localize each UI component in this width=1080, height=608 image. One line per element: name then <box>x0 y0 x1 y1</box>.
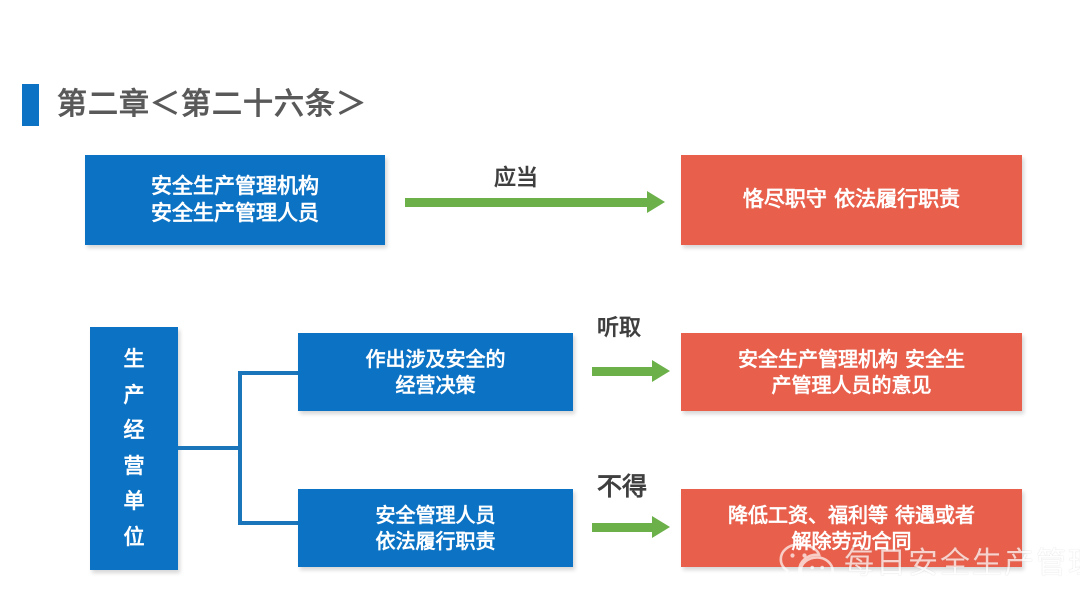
bottom-target-line-2: 解除劳动合同 <box>792 528 912 554</box>
middle-source-line-2: 经营决策 <box>396 372 476 398</box>
bottom-arrow-shaft <box>592 523 652 532</box>
top-arrow-shaft <box>405 198 647 207</box>
connector-trunk <box>238 371 242 525</box>
top-arrow-head <box>647 191 665 213</box>
top-source-line-1: 安全生产管理机构 <box>151 173 319 200</box>
vertical-char-0: 生 <box>124 349 145 370</box>
middle-source-line-1: 作出涉及安全的 <box>366 346 506 372</box>
connector-branch-lower <box>238 521 300 525</box>
middle-arrow-head <box>652 360 670 382</box>
bottom-target-box: 降低工资、福利等 待遇或者 解除劳动合同 <box>681 489 1022 567</box>
vertical-label-box: 生 产 经 营 单 位 <box>90 327 178 570</box>
middle-target-box: 安全生产管理机构 安全生 产管理人员的意见 <box>681 333 1022 411</box>
title-accent-bar <box>22 84 39 126</box>
middle-target-line-1: 安全生产管理机构 安全生 <box>738 346 965 372</box>
bottom-arrow-head <box>652 516 670 538</box>
middle-arrow-label: 听取 <box>597 318 641 340</box>
vertical-char-5: 位 <box>124 527 145 548</box>
top-source-line-2: 安全生产管理人员 <box>151 200 319 227</box>
title-text: 第二章＜第二十六条＞ <box>57 90 367 120</box>
middle-target-line-2: 产管理人员的意见 <box>772 372 932 398</box>
top-target-box: 恪尽职守 依法履行职责 <box>681 155 1022 245</box>
top-arrow-label: 应当 <box>494 168 538 190</box>
bottom-source-box: 安全管理人员 依法履行职责 <box>298 489 573 567</box>
top-arrow <box>405 197 665 207</box>
top-target-line-1: 恪尽职守 依法履行职责 <box>743 186 960 213</box>
connector-branch-upper <box>238 371 300 375</box>
connector-stub <box>178 446 242 450</box>
bottom-source-line-2: 依法履行职责 <box>376 528 496 554</box>
middle-arrow-shaft <box>592 367 652 376</box>
top-source-box: 安全生产管理机构 安全生产管理人员 <box>85 155 385 245</box>
vertical-char-1: 产 <box>124 385 145 406</box>
vertical-char-3: 营 <box>124 456 145 477</box>
slide-canvas: 第二章＜第二十六条＞ 安全生产管理机构 安全生产管理人员 应当 恪尽职守 依法履… <box>0 0 1080 608</box>
middle-arrow <box>592 366 670 376</box>
bottom-target-line-1: 降低工资、福利等 待遇或者 <box>728 502 975 528</box>
page-title: 第二章＜第二十六条＞ <box>22 84 367 126</box>
middle-source-box: 作出涉及安全的 经营决策 <box>298 333 573 411</box>
vertical-char-2: 经 <box>124 420 145 441</box>
bottom-arrow-label: 不得 <box>597 474 647 499</box>
bottom-source-line-1: 安全管理人员 <box>376 502 496 528</box>
vertical-char-4: 单 <box>124 491 145 512</box>
bottom-arrow <box>592 522 670 532</box>
